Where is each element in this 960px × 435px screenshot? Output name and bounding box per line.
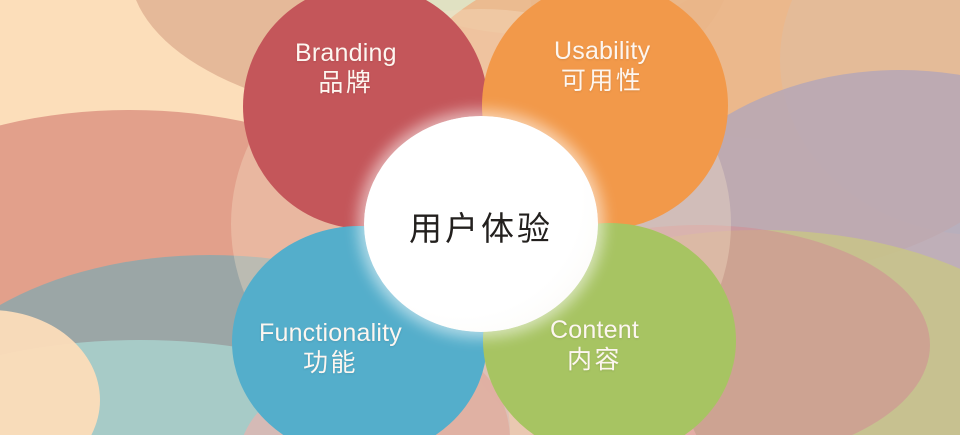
- center-hub-label: 用户体验: [409, 202, 553, 250]
- ux-diagram-canvas: Branding 品牌 Usability 可用性 Functionality …: [0, 0, 960, 435]
- lobe-branding-label-en: Branding: [295, 40, 397, 67]
- lobe-content-label-zh: 内容: [567, 347, 622, 374]
- lobe-usability-label-en: Usability: [554, 38, 650, 65]
- lobe-content-label-en: Content: [550, 317, 639, 344]
- lobe-usability-text: Usability 可用性: [554, 38, 650, 95]
- lobe-functionality-text: Functionality 功能: [259, 320, 402, 377]
- center-hub[interactable]: 用户体验: [364, 116, 598, 332]
- lobe-functionality-label-zh: 功能: [303, 350, 358, 377]
- lobe-functionality-label-en: Functionality: [259, 320, 402, 347]
- lobe-branding-text: Branding 品牌: [295, 40, 397, 97]
- lobe-branding-label-zh: 品牌: [318, 70, 373, 97]
- lobe-usability-label-zh: 可用性: [561, 68, 644, 95]
- lobe-content-text: Content 内容: [550, 317, 639, 374]
